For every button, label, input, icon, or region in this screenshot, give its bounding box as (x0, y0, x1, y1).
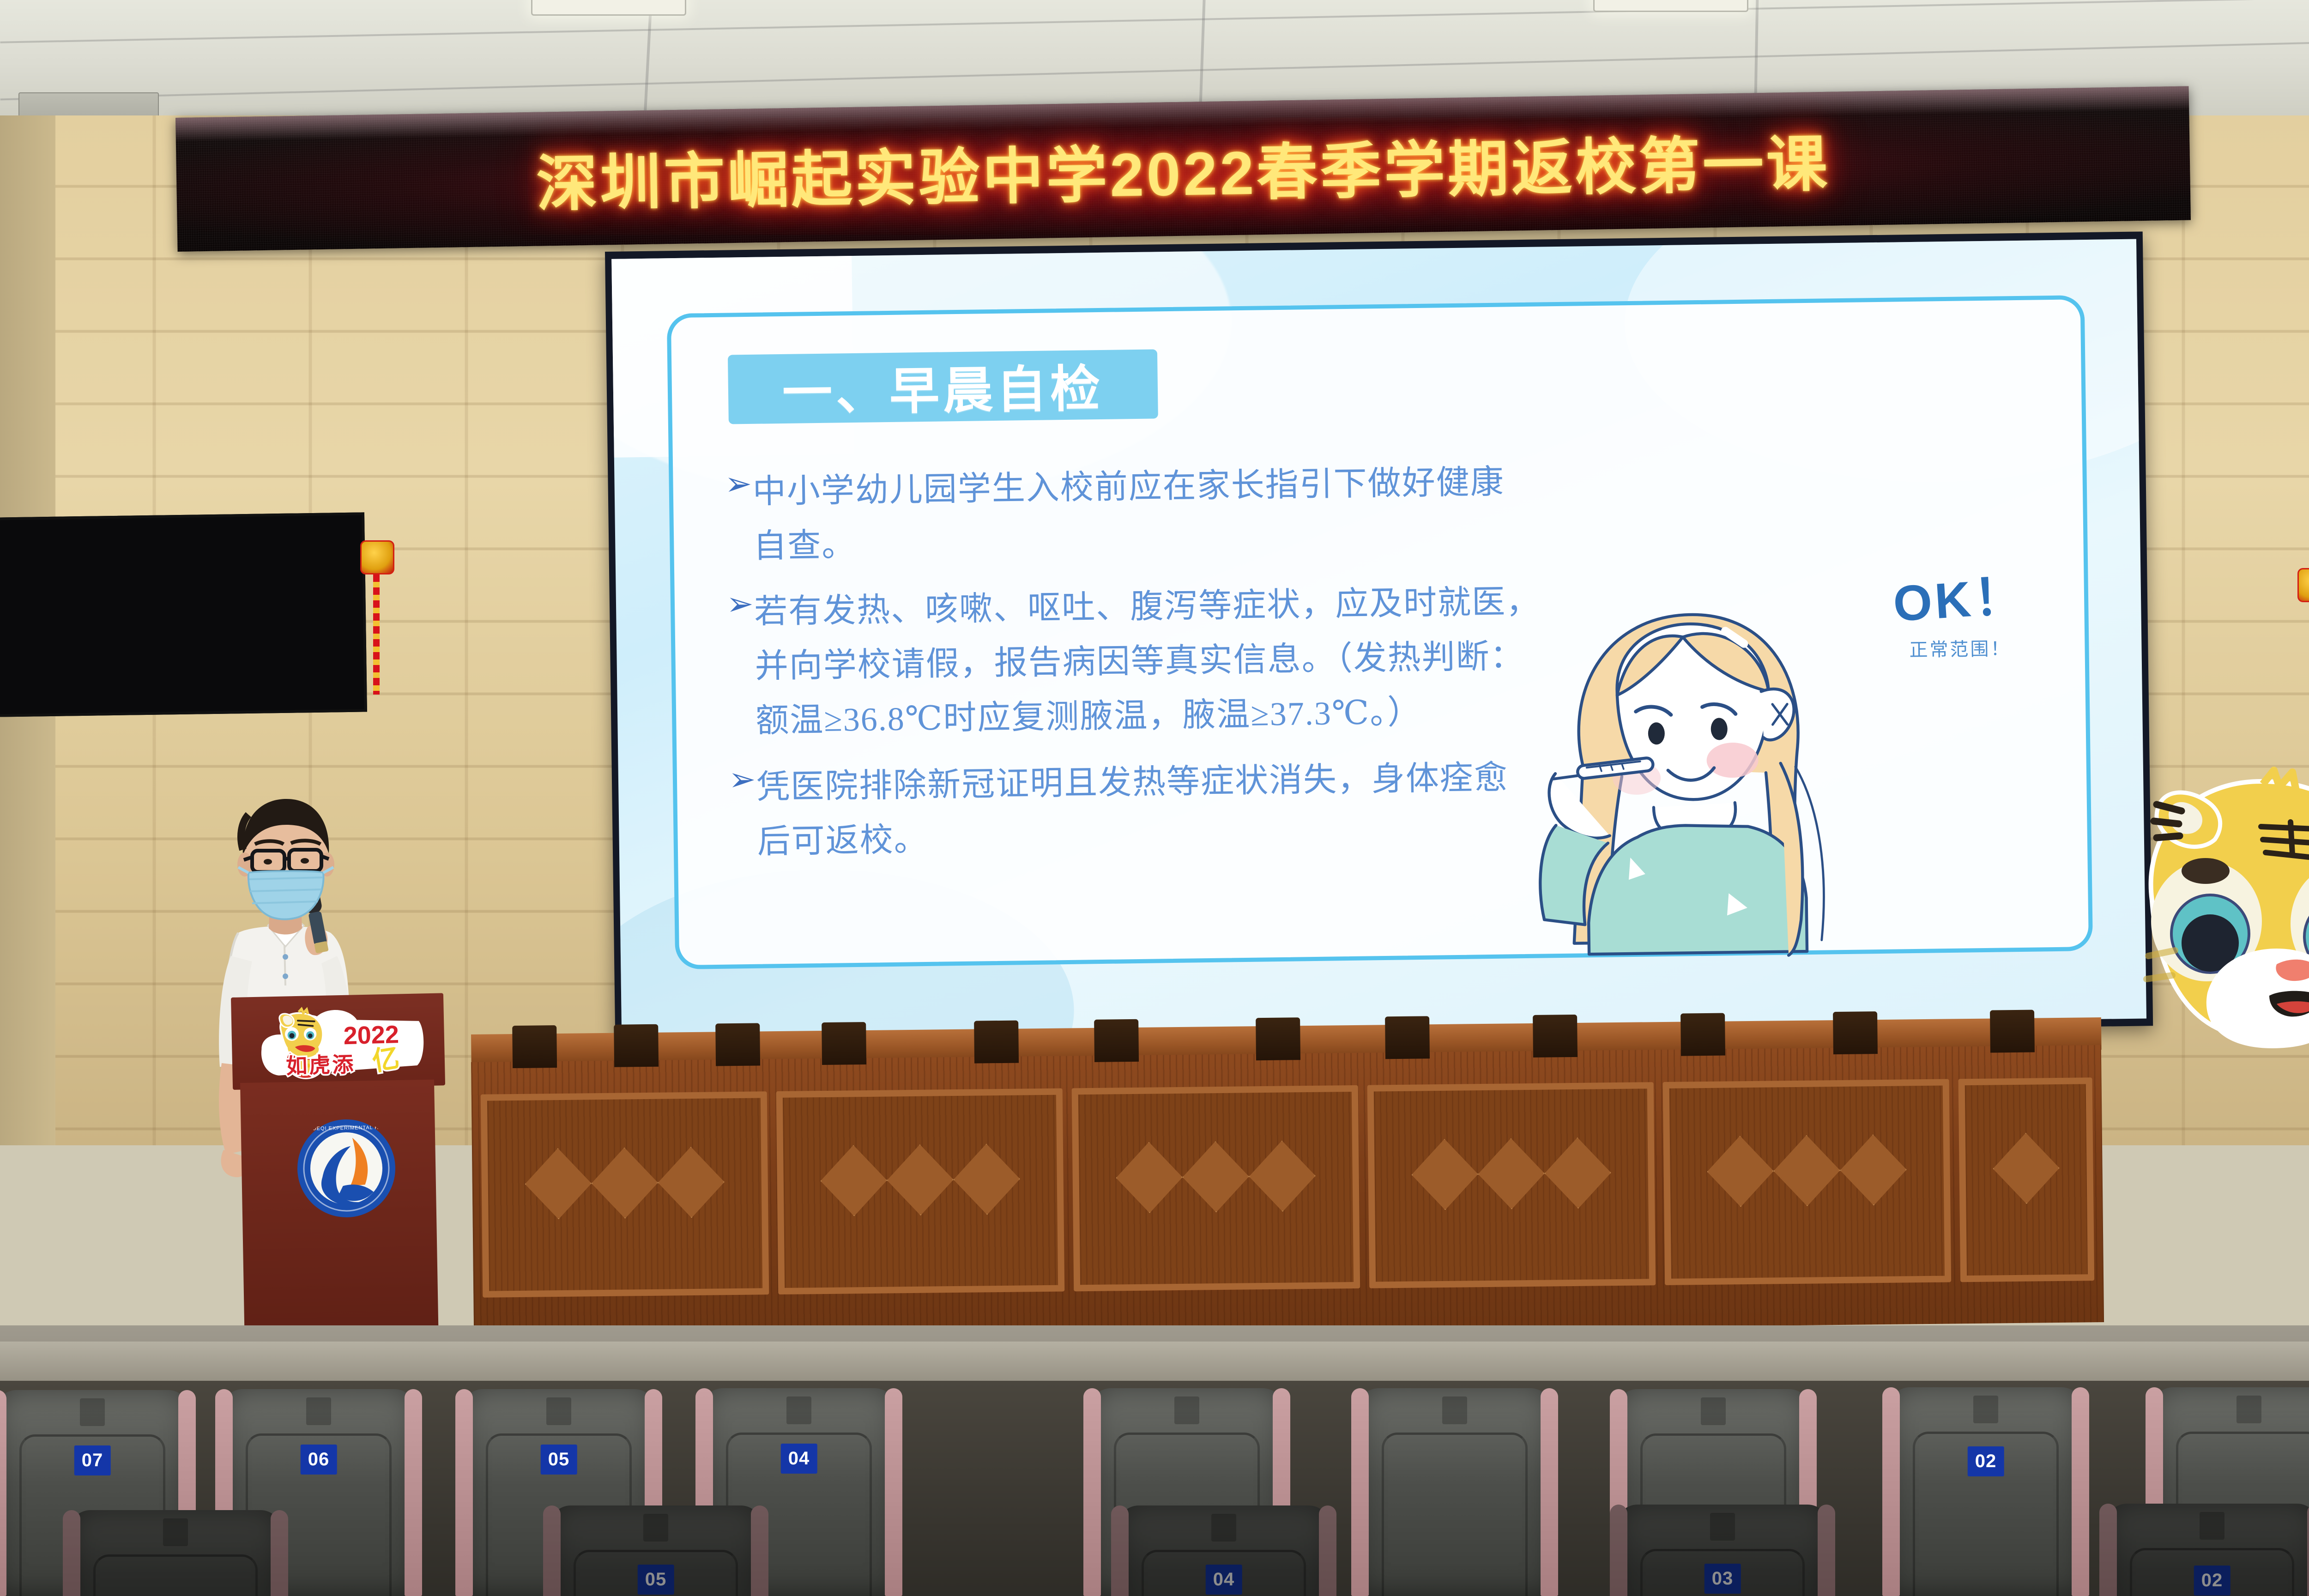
panel-diamond-motif (1773, 1135, 1841, 1206)
table-divider-screen (1094, 1019, 1139, 1062)
seat-number-badge: 03 (1705, 1564, 1741, 1594)
panel-diamond-motif (1411, 1138, 1479, 1210)
panel-diamond-motif (1182, 1141, 1250, 1213)
panel-diamond-motif (1116, 1142, 1183, 1213)
ceiling-light (531, 0, 686, 16)
seat-number-badge: 05 (541, 1445, 577, 1475)
table-divider-screen (614, 1024, 659, 1067)
panel-diamond-motif (591, 1147, 659, 1219)
chinese-new-year-ornament-left (365, 540, 387, 695)
seat-number-badge: 06 (301, 1445, 337, 1475)
table-divider-screen (974, 1021, 1019, 1064)
wall-mounted-tv-left[interactable] (0, 512, 367, 717)
girl-taking-temperature-illustration (1516, 577, 1872, 961)
panel-diamond-motif (1478, 1138, 1545, 1209)
projection-screen-frame: 一、早晨自检 ➢ 中小学幼儿园学生入校前应在家长指引下做好健康 自查。 ➢ (605, 231, 2153, 1046)
table-divider-screen (1256, 1017, 1300, 1060)
auditorium-seat[interactable]: 02 (2106, 1504, 2309, 1596)
slide-bullet-3: ➢ 凭医院排除新冠证明且发热等症状消失，身体痊愈 后可返校。 (728, 748, 1653, 869)
bullet-marker-icon: ➢ (725, 467, 752, 500)
panel-diamond-motif (1993, 1132, 2060, 1204)
seat-number-badge: 04 (1206, 1565, 1242, 1595)
auditorium-seat[interactable]: 04 (1118, 1505, 1330, 1596)
ok-annotation: OK！ 正常范围！ (1892, 559, 2027, 662)
ornament-tassel (373, 574, 380, 695)
bullet-marker-icon: ➢ (726, 587, 754, 620)
seat-number-badge: 07 (74, 1445, 111, 1475)
auditorium-seat[interactable]: 02 (1889, 1387, 2083, 1596)
panel-diamond-motif (953, 1143, 1021, 1215)
auditorium-seat[interactable]: 05 (550, 1505, 762, 1596)
seat-number-badge: 02 (1968, 1446, 2004, 1476)
table-divider-screen (715, 1023, 760, 1066)
auditorium-seat[interactable] (69, 1510, 282, 1596)
table-divider-screen (1385, 1016, 1430, 1059)
ornament-medallion-icon (360, 540, 394, 574)
ok-annotation-caption: 正常范围！ (1893, 634, 2027, 662)
sticker-yi-character: 亿 (370, 1043, 401, 1077)
panel-diamond-motif (1249, 1140, 1316, 1212)
podium-new-year-sticker: 2022 如虎添 亿 (259, 1003, 427, 1094)
ceiling-light (1593, 0, 1748, 12)
table-divider-screen (1533, 1015, 1578, 1058)
bullet-marker-icon: ➢ (729, 763, 756, 796)
tiger-mascot-cutout (2124, 762, 2309, 1048)
auditorium-seat[interactable] (1358, 1388, 1552, 1596)
panel-diamond-motif (820, 1145, 888, 1216)
panel-diamond-motif (658, 1147, 725, 1218)
seat-number-badge: 02 (2194, 1566, 2230, 1596)
panel-diamond-motif (1840, 1134, 1907, 1206)
slide-title-banner: 一、早晨自检 (728, 349, 1158, 424)
panel-diamond-motif (525, 1148, 592, 1220)
slide-title-text: 一、早晨自检 (782, 349, 1104, 425)
table-divider-screen (512, 1025, 557, 1068)
slide-bullet-1: ➢ 中小学幼儿园学生入校前应在家长指引下做好健康 自查。 (725, 453, 1650, 574)
table-divider-screen (1680, 1013, 1725, 1056)
table-divider-screen (822, 1022, 866, 1065)
auditorium-photo: 深圳市崛起实验中学2022春季学期返校第一课 一、早晨自检 (0, 0, 2309, 1596)
ornament-medallion-icon (2297, 568, 2309, 602)
ok-annotation-headline: OK！ (1891, 555, 2028, 636)
sticker-phrase-text: 如虎添 (286, 1052, 356, 1078)
conference-table-front (471, 1045, 2104, 1339)
panel-diamond-motif (1544, 1137, 1612, 1209)
table-divider-screen (1833, 1011, 1878, 1054)
slide-bullet-2: ➢ 若有发热、咳嗽、呕吐、腹泻等症状，应及时就医， 并向学校请假，报告病因等真实… (726, 573, 1651, 748)
seat-number-badge: 04 (781, 1444, 817, 1474)
panel-diamond-motif (887, 1144, 954, 1215)
seat-number-badge: 05 (638, 1565, 674, 1595)
panel-diamond-motif (1707, 1136, 1774, 1207)
auditorium-seat[interactable]: 03 (1616, 1505, 1829, 1596)
projection-screen: 一、早晨自检 ➢ 中小学幼儿园学生入校前应在家长指引下做好健康 自查。 ➢ (611, 239, 2146, 1039)
table-divider-screen (1990, 1010, 2035, 1053)
slide-card: 一、早晨自检 ➢ 中小学幼儿园学生入校前应在家长指引下做好健康 自查。 ➢ (667, 295, 2093, 969)
chinese-new-year-ornament-right (2302, 568, 2309, 722)
